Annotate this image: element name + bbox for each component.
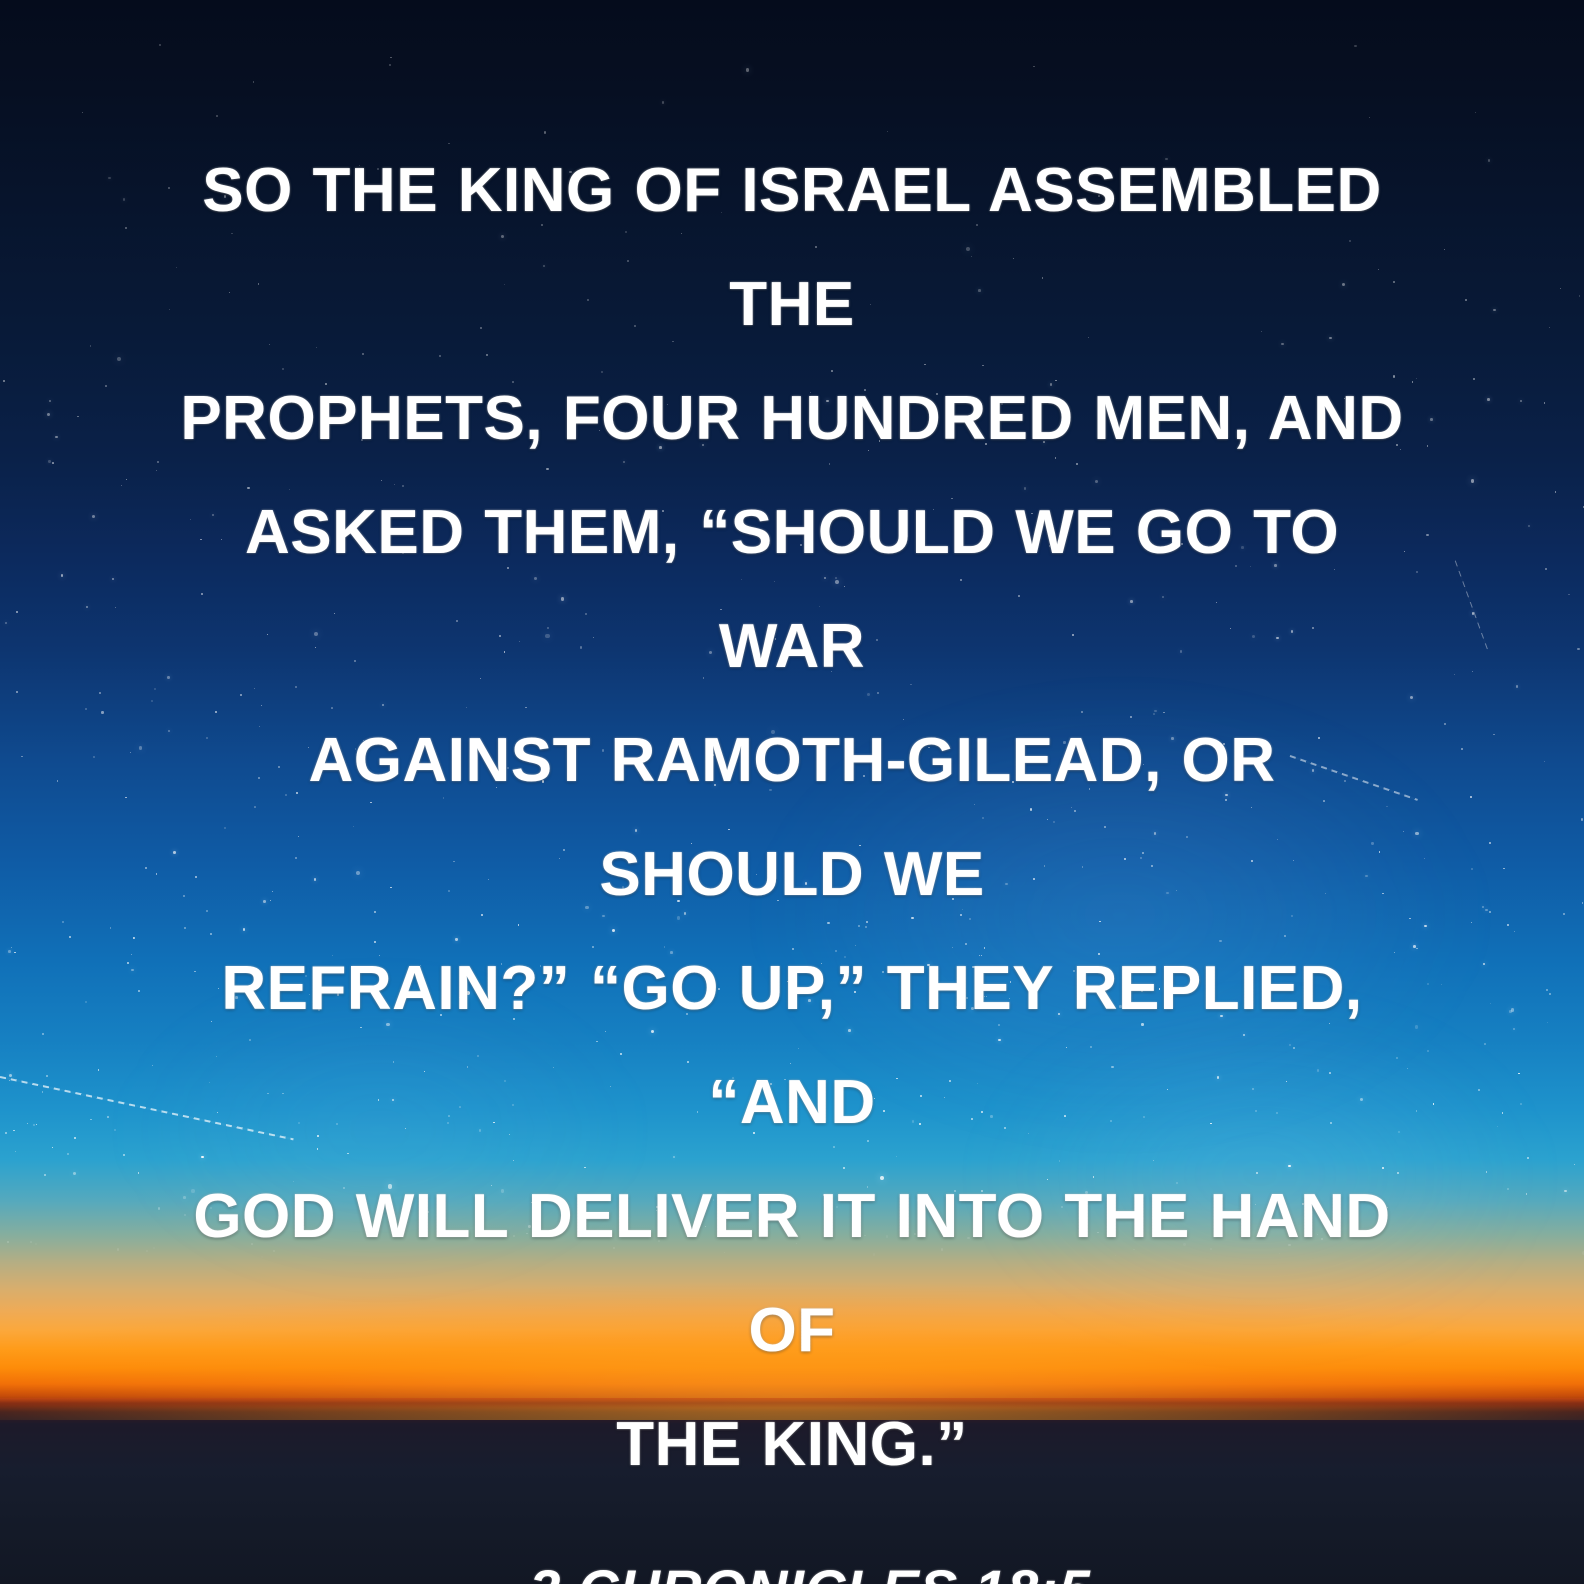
text-block: SO THE KING OF ISRAEL ASSEMBLED THEPROPH…: [0, 0, 1584, 1584]
verse-attribution: - 2 CHRONICLES 18:5: [0, 1560, 1584, 1584]
quote-card: SO THE KING OF ISRAEL ASSEMBLED THEPROPH…: [0, 0, 1584, 1584]
verse-text: SO THE KING OF ISRAEL ASSEMBLED THEPROPH…: [172, 134, 1412, 1502]
